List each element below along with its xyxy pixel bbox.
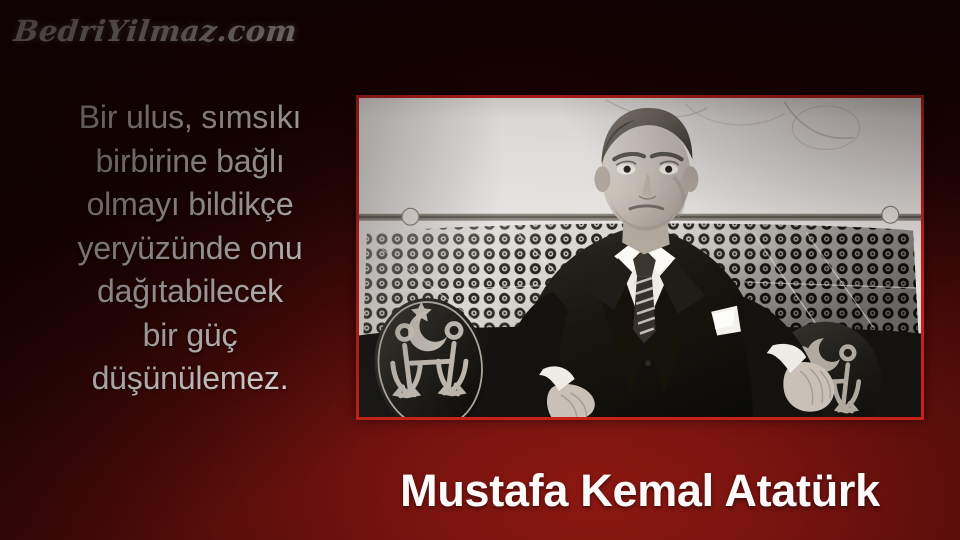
attribution-name: Mustafa Kemal Atatürk <box>358 465 922 517</box>
quote-line: yeryüzünde onu <box>18 227 362 271</box>
quote-line: düşünülemez. <box>18 357 362 401</box>
portrait-photo <box>359 98 921 420</box>
quote-line: Bir ulus, sımsıkı <box>18 96 362 140</box>
quote-line: bir güç <box>18 314 362 358</box>
quote-line: dağıtabilecek <box>18 270 362 314</box>
quote-line: birbirine bağlı <box>18 140 362 184</box>
portrait-photo-frame <box>356 95 924 420</box>
site-watermark: BedriYilmaz.com <box>12 14 299 48</box>
quote-line: olmayı bildikçe <box>18 183 362 227</box>
quote-poster: BedriYilmaz.com Bir ulus, sımsıkı birbir… <box>0 0 960 540</box>
quote-text: Bir ulus, sımsıkı birbirine bağlı olmayı… <box>18 96 362 401</box>
